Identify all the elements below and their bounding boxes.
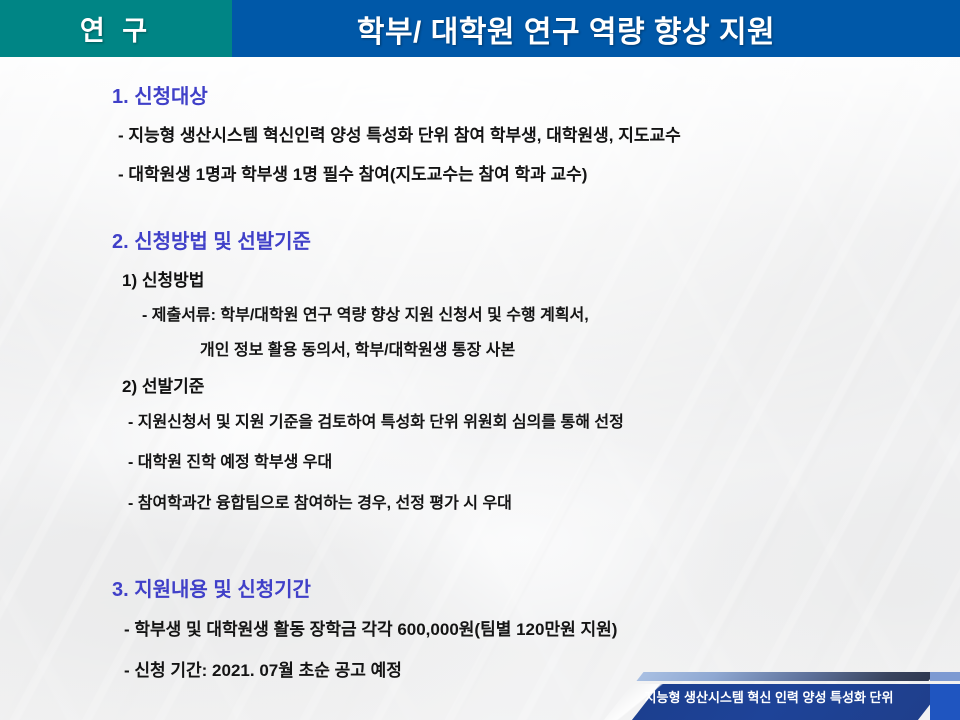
section-2-subheading-2: 2) 선발기준	[122, 378, 960, 395]
header-title-bar: 학부/ 대학원 연구 역량 향상 지원	[232, 0, 960, 57]
section-2-item-4: - 대학원 진학 예정 학부생 우대	[128, 455, 960, 471]
footer-thin-strip-right-cap	[930, 672, 960, 681]
slide-body: 1. 신청대상 - 지능형 생산시스템 혁신인력 양성 특성화 단위 참여 학부…	[0, 57, 960, 720]
section-1-heading: 1. 신청대상	[112, 87, 960, 107]
section-1: 1. 신청대상 - 지능형 생산시스템 혁신인력 양성 특성화 단위 참여 학부…	[0, 87, 960, 183]
section-2-item-2: 개인 정보 활용 동의서, 학부/대학원생 통장 사본	[200, 343, 960, 359]
footer-ribbon: 지능형 생산시스템 혁신 인력 양성 특성화 단위	[600, 670, 960, 720]
header-category-label: 연 구	[80, 9, 152, 48]
footer-label: 지능형 생산시스템 혁신 인력 양성 특성화 단위	[600, 687, 938, 706]
section-2-item-3: - 지원신청서 및 지원 기준을 검토하여 특성화 단위 위원회 심의를 통해 …	[128, 415, 960, 431]
section-3: 3. 지원내용 및 신청기간 - 학부생 및 대학원생 활동 장학금 각각 60…	[0, 580, 960, 679]
page-title: 학부/ 대학원 연구 역량 향상 지원	[357, 7, 835, 51]
section-2: 2. 신청방법 및 선발기준 1) 신청방법 - 제출서류: 학부/대학원 연구…	[0, 232, 960, 512]
section-2-subheading-1: 1) 신청방법	[122, 272, 960, 289]
section-2-item-1: - 제출서류: 학부/대학원 연구 역량 향상 지원 신청서 및 수행 계획서,	[142, 308, 960, 324]
section-3-item-1: - 학부생 및 대학원생 활동 장학금 각각 600,000원(팀별 120만원…	[124, 621, 960, 638]
section-3-heading: 3. 지원내용 및 신청기간	[112, 580, 960, 600]
section-2-item-5: - 참여학과간 융합팀으로 참여하는 경우, 선정 평가 시 우대	[128, 496, 960, 512]
section-2-heading: 2. 신청방법 및 선발기준	[112, 232, 960, 252]
section-1-item-2: - 대학원생 1명과 학부생 1명 필수 참여(지도교수는 참여 학과 교수)	[118, 166, 960, 183]
section-1-item-1: - 지능형 생산시스템 혁신인력 양성 특성화 단위 참여 학부생, 대학원생,…	[118, 127, 960, 144]
header-category-tag: 연 구	[0, 0, 232, 57]
slide-header: 연 구 학부/ 대학원 연구 역량 향상 지원	[0, 0, 960, 57]
slide-canvas: 연 구 학부/ 대학원 연구 역량 향상 지원 1. 신청대상 - 지능형 생산…	[0, 0, 960, 720]
footer-thin-strip	[636, 672, 935, 681]
